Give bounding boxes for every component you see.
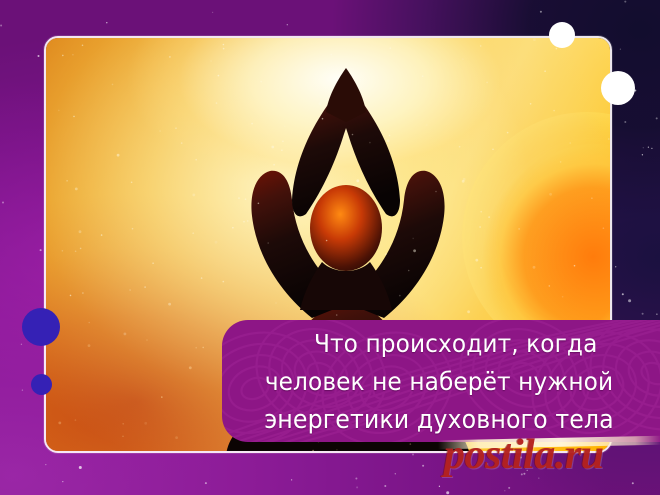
caption-line-1: Что происходит, когда: [245, 325, 634, 363]
blue-dot-large-icon: [22, 308, 60, 346]
caption-panel: Что происходит, когда человек не наберёт…: [222, 320, 660, 442]
white-dot-top-icon: [549, 22, 575, 48]
caption-text-block: Что происходит, когда человек не наберёт…: [222, 320, 660, 439]
blue-dot-small-icon: [31, 374, 52, 395]
pin-image-canvas: Что происходит, когда человек не наберёт…: [0, 0, 660, 495]
caption-line-3: энергетики духовного тела: [245, 401, 634, 439]
caption-line-2: человек не наберёт нужной: [245, 363, 634, 401]
white-dot-right-icon: [601, 71, 635, 105]
